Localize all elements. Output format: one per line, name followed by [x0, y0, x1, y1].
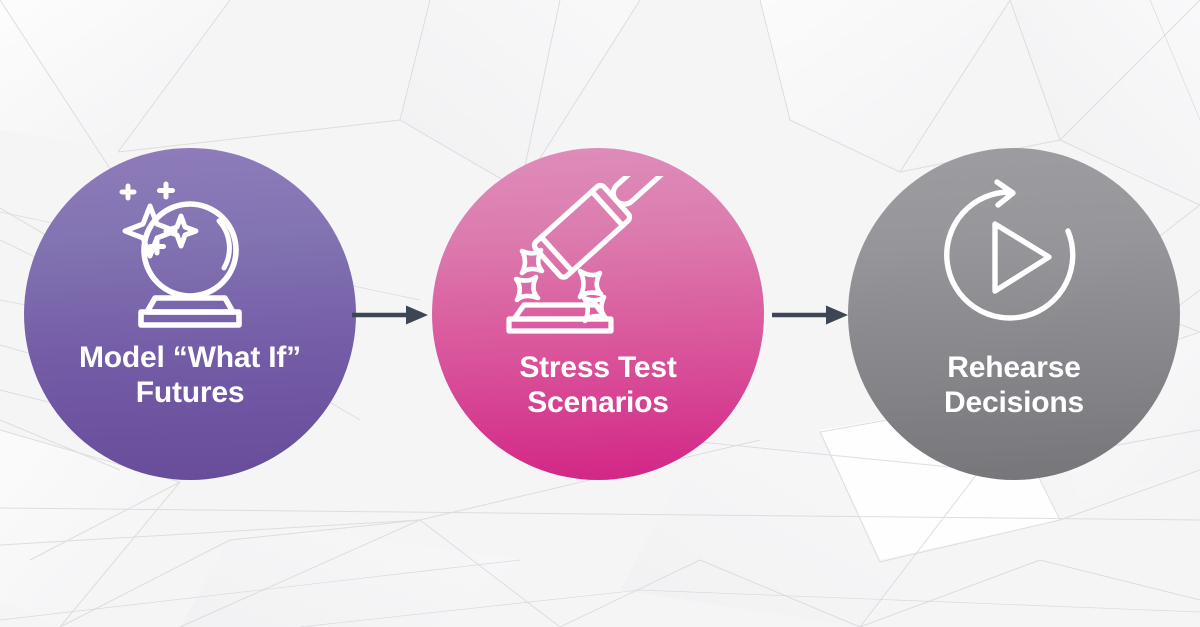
- crystal-ball-icon: [115, 178, 265, 330]
- gavel-icon: [492, 176, 704, 336]
- connector-arrow-1: [352, 298, 430, 332]
- replay-play-icon: [931, 178, 1097, 334]
- process-step-3-label: Rehearse Decisions: [864, 350, 1164, 420]
- process-step-1-label: Model “What If” Futures: [40, 340, 340, 410]
- process-step-3[interactable]: Rehearse Decisions: [848, 148, 1180, 480]
- process-step-2[interactable]: Stress Test Scenarios: [432, 148, 764, 480]
- process-step-1[interactable]: Model “What If” Futures: [24, 148, 356, 480]
- diagram-canvas: Model “What If” Futures Stress Test Scen…: [0, 0, 1200, 627]
- connector-arrow-2: [772, 298, 850, 332]
- process-step-2-label: Stress Test Scenarios: [448, 350, 748, 420]
